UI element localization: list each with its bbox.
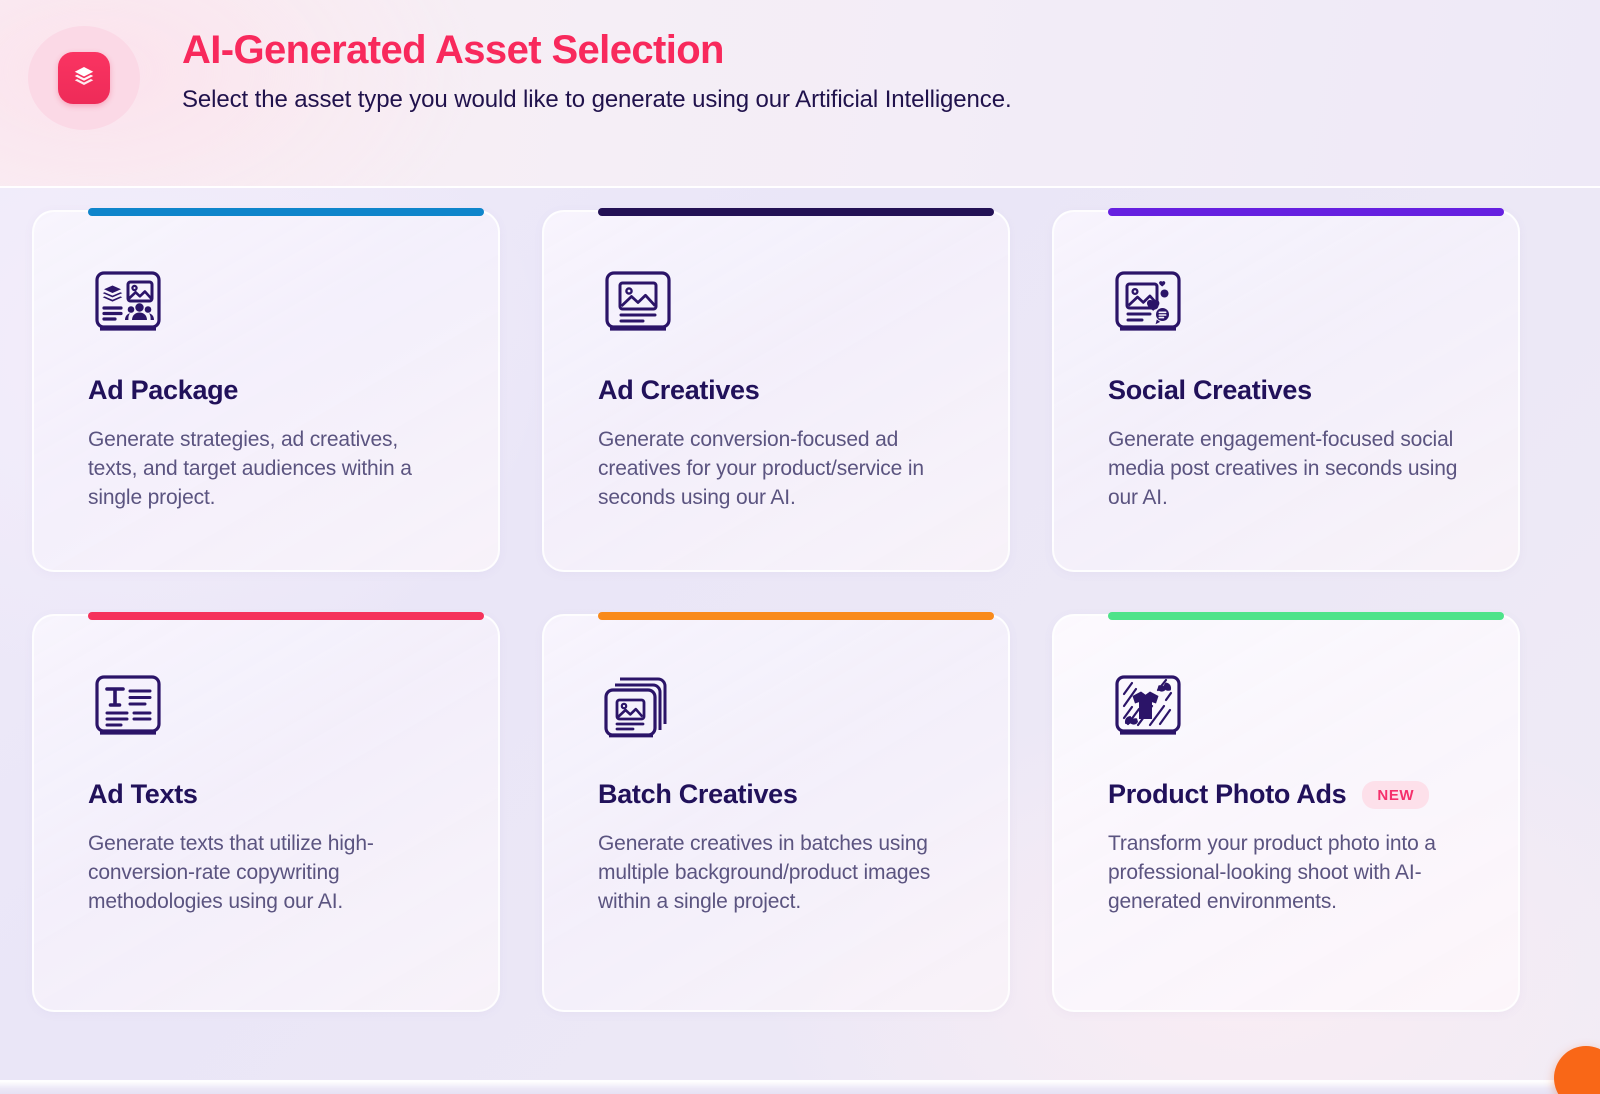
ad-package-icon — [88, 264, 168, 344]
card-accent-bar — [88, 208, 484, 216]
asset-card-ad-creatives[interactable]: Ad Creatives Generate conversion-focused… — [542, 210, 1010, 572]
header-text-block: AI-Generated Asset Selection Select the … — [182, 22, 1012, 115]
card-title: Batch Creatives — [598, 780, 798, 810]
card-accent-bar — [598, 208, 994, 216]
card-title-row: Ad Creatives — [598, 376, 968, 406]
chat-launcher-button[interactable] — [1554, 1046, 1600, 1094]
page-bottom-edge — [0, 1080, 1600, 1094]
asset-card-grid: Ad Package Generate strategies, ad creat… — [32, 188, 1568, 1012]
asset-grid-area: Ad Package Generate strategies, ad creat… — [0, 188, 1600, 1094]
card-description: Generate creatives in batches using mult… — [598, 830, 963, 917]
status-badge: NEW — [1362, 781, 1429, 809]
card-description: Generate conversion-focused ad creatives… — [598, 426, 963, 513]
card-description: Generate engagement-focused social media… — [1108, 426, 1473, 513]
card-description: Transform your product photo into a prof… — [1108, 830, 1473, 917]
card-title-row: Ad Package — [88, 376, 458, 406]
layers-stack-icon — [58, 52, 110, 104]
header-icon-circle — [28, 26, 140, 130]
card-accent-bar — [1108, 208, 1504, 216]
card-title: Product Photo Ads — [1108, 780, 1346, 810]
ad-creative-image-icon — [598, 264, 678, 344]
page-title: AI-Generated Asset Selection — [182, 28, 1012, 73]
ad-text-document-icon — [88, 668, 168, 748]
page-subtitle: Select the asset type you would like to … — [182, 85, 1012, 115]
card-title: Social Creatives — [1108, 376, 1312, 406]
card-title-row: Social Creatives — [1108, 376, 1478, 406]
asset-card-ad-texts[interactable]: Ad Texts Generate texts that utilize hig… — [32, 614, 500, 1012]
card-accent-bar — [1108, 612, 1504, 620]
card-description: Generate texts that utilize high-convers… — [88, 830, 453, 917]
product-photo-tshirt-icon — [1108, 668, 1188, 748]
card-title-row: Product Photo Ads NEW — [1108, 780, 1478, 810]
card-title: Ad Package — [88, 376, 238, 406]
card-accent-bar — [598, 612, 994, 620]
card-accent-bar — [88, 612, 484, 620]
asset-card-product-photo-ads[interactable]: Product Photo Ads NEW Transform your pro… — [1052, 614, 1520, 1012]
page-header: AI-Generated Asset Selection Select the … — [0, 0, 1600, 188]
card-title: Ad Creatives — [598, 376, 759, 406]
asset-card-social-creatives[interactable]: Social Creatives Generate engagement-foc… — [1052, 210, 1520, 572]
social-creative-icon — [1108, 264, 1188, 344]
card-title-row: Batch Creatives — [598, 780, 968, 810]
batch-creatives-stack-icon — [598, 668, 678, 748]
card-title: Ad Texts — [88, 780, 198, 810]
card-title-row: Ad Texts — [88, 780, 458, 810]
asset-card-ad-package[interactable]: Ad Package Generate strategies, ad creat… — [32, 210, 500, 572]
card-description: Generate strategies, ad creatives, texts… — [88, 426, 453, 513]
asset-selection-page: AI-Generated Asset Selection Select the … — [0, 0, 1600, 1094]
asset-card-batch-creatives[interactable]: Batch Creatives Generate creatives in ba… — [542, 614, 1010, 1012]
